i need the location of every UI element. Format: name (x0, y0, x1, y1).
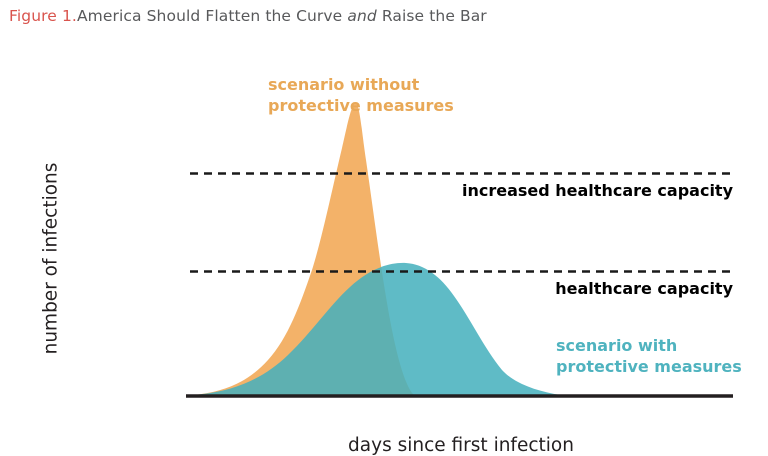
figure-title-part2: Raise the Bar (377, 7, 487, 25)
epidemic-curve-chart: scenario without protective measures sce… (0, 30, 768, 450)
annotation-scenario-with-measures: scenario with protective measures (556, 335, 742, 377)
y-axis-title: number of infections (41, 149, 62, 369)
annotation-scenario-without-measures: scenario without protective measures (268, 74, 454, 116)
figure-title-part1: America Should Flatten the Curve (77, 7, 347, 25)
figure-title-emphasis: and (347, 7, 376, 25)
figure-number: Figure 1. (9, 7, 77, 25)
label-healthcare-capacity: healthcare capacity (555, 279, 733, 298)
figure-caption: Figure 1.America Should Flatten the Curv… (9, 6, 487, 26)
label-increased-healthcare-capacity: increased healthcare capacity (462, 181, 733, 200)
x-axis-title: days since first infection (188, 435, 734, 456)
